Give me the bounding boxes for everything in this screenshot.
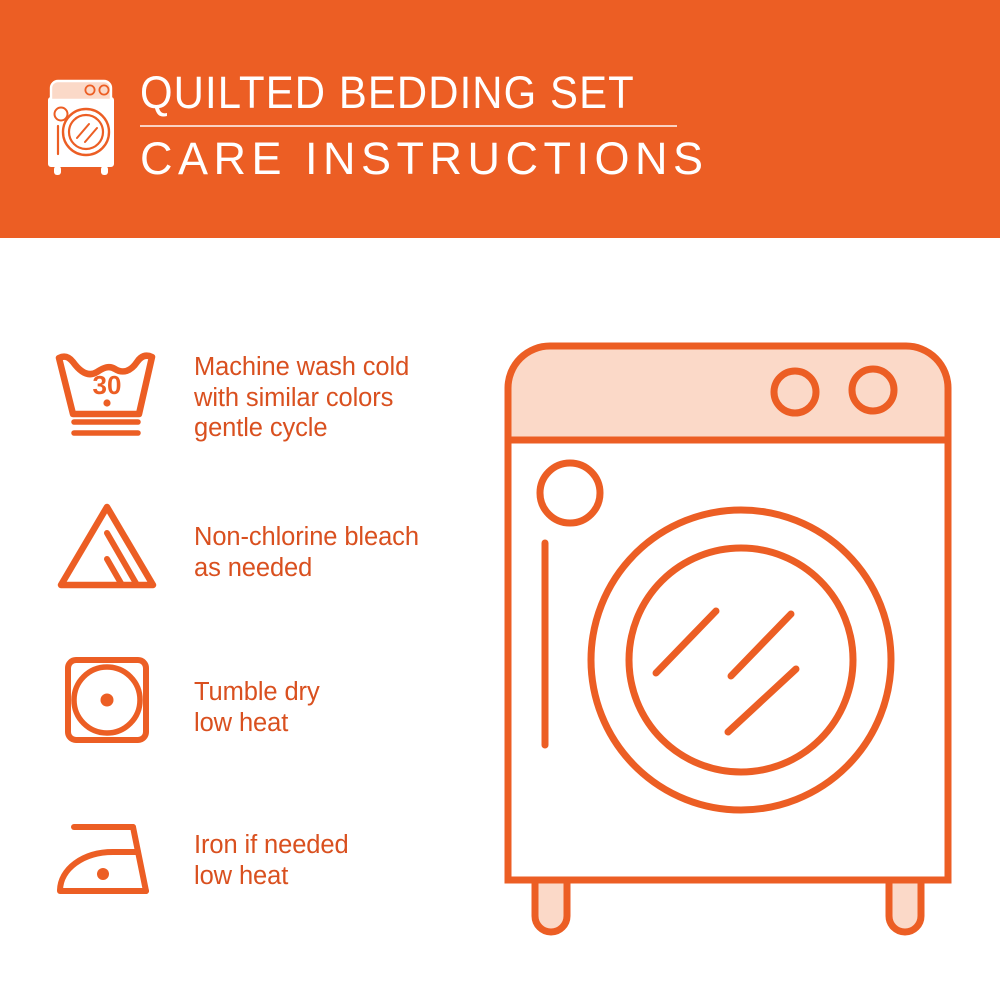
care-text-line: gentle cycle (194, 413, 409, 444)
care-instruction-item-wash: 30 Machine wash cold with similar colors… (48, 340, 478, 495)
wash-tub-30-gentle-icon: 30 (48, 340, 166, 444)
care-instruction-text-bleach: Non-chlorine bleach as needed (194, 495, 419, 583)
page-title: QUILTED BEDDING SET (140, 68, 669, 117)
header-content: QUILTED BEDDING SET CARE INSTRUCTIONS (44, 68, 709, 184)
care-instruction-text-iron: Iron if needed low heat (194, 805, 349, 891)
iron-low-heat-icon (48, 805, 166, 909)
care-instruction-list: 30 Machine wash cold with similar colors… (48, 340, 478, 960)
non-chlorine-bleach-triangle-icon (48, 495, 166, 599)
care-text-line: low heat (194, 861, 349, 892)
header-divider (140, 125, 677, 127)
control-panel (508, 346, 948, 440)
header-banner: QUILTED BEDDING SET CARE INSTRUCTIONS (0, 0, 1000, 238)
care-text-line: Non-chlorine bleach (194, 522, 419, 553)
care-instruction-item-bleach: Non-chlorine bleach as needed (48, 495, 478, 650)
care-instruction-item-tumble-dry: Tumble dry low heat (48, 650, 478, 805)
wash-temperature-label: 30 (93, 370, 122, 400)
care-text-line: Machine wash cold (194, 352, 409, 383)
leg-left (535, 880, 567, 932)
care-text-line: low heat (194, 708, 320, 739)
leg-right (889, 880, 921, 932)
care-instruction-text-wash: Machine wash cold with similar colors ge… (194, 340, 409, 444)
care-text-line: with similar colors (194, 383, 409, 414)
care-text-line: Iron if needed (194, 830, 349, 861)
header-text-block: QUILTED BEDDING SET CARE INSTRUCTIONS (140, 68, 709, 184)
page-subtitle: CARE INSTRUCTIONS (140, 134, 709, 184)
tumble-dry-low-heat-icon (48, 650, 166, 754)
washing-machine-icon (44, 72, 122, 178)
care-instruction-text-tumble-dry: Tumble dry low heat (194, 650, 320, 738)
front-load-washing-machine-illustration (488, 330, 968, 940)
care-text-line: as needed (194, 553, 419, 584)
care-text-line: Tumble dry (194, 677, 320, 708)
care-instruction-item-iron: Iron if needed low heat (48, 805, 478, 960)
